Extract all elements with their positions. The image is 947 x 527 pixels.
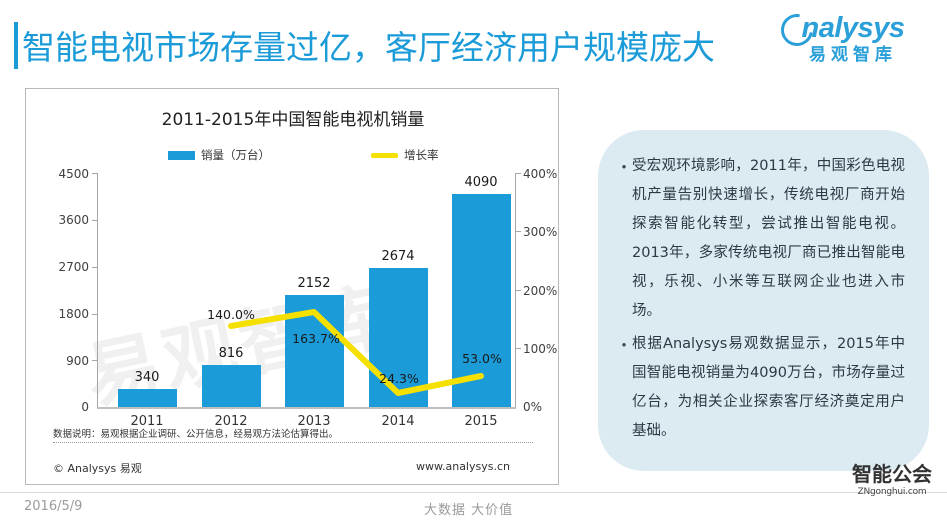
y2-tick-100: 100% (523, 342, 569, 356)
bar-2012[interactable] (202, 365, 261, 407)
y2-tick-400: 400% (523, 167, 569, 181)
analysys-chinese-name: 易观智库 (773, 44, 933, 66)
insight-bullet-2-text: 根据Analysys易观数据显示，2015年中国智能电视销量为4090万台，市场… (632, 330, 905, 446)
footer-divider (0, 492, 947, 493)
insight-bullet-1-text: 受宏观环境影响，2011年，中国彩色电视机产量告别快速增长，传统电视厂商开始探索… (632, 152, 905, 326)
insight-bullet-2: • 根据Analysys易观数据显示，2015年中国智能电视销量为4090万台，… (616, 330, 905, 446)
zngonghui-logo-chinese: 智能公会 (848, 462, 936, 486)
bar-2011[interactable] (118, 389, 177, 407)
zngonghui-logo-url: ZNgonghui.com (848, 486, 936, 498)
insight-bullet-1: • 受宏观环境影响，2011年，中国彩色电视机产量告别快速增长，传统电视厂商开始… (616, 152, 905, 326)
growth-label-2012: 140.0% (196, 307, 266, 322)
bar-2014[interactable] (369, 268, 428, 407)
growth-label-2014: 24.3% (364, 371, 434, 386)
x-label-2015: 2015 (441, 414, 521, 429)
bar-label-2014: 2674 (358, 249, 438, 264)
bar-label-2013: 2152 (274, 276, 354, 291)
analysys-wordmark: nalysys (773, 12, 933, 44)
y2-tick-200: 200% (523, 284, 569, 298)
bar-label-2012: 816 (191, 346, 271, 361)
title-accent-bar (14, 22, 18, 69)
y-tick-0: 0 (43, 400, 89, 414)
page-title: 智能电视市场存量过亿，客厅经济用户规模庞大 (22, 21, 715, 69)
y-tick-900: 900 (43, 354, 89, 368)
y-axis-left (97, 173, 98, 407)
y-tick-3600: 3600 (43, 213, 89, 227)
chart-note-divider (53, 442, 533, 443)
y2-tickmark-400 (516, 173, 521, 174)
y2-tick-300: 300% (523, 225, 569, 239)
y-tick-1800: 1800 (43, 307, 89, 321)
bullet-marker-icon: • (616, 152, 632, 326)
bar-label-2015: 4090 (441, 175, 521, 190)
analysys-logo: nalysys 易观智库 (773, 12, 933, 78)
page-header: 智能电视市场存量过亿，客厅经济用户规模庞大 nalysys 易观智库 (0, 0, 947, 86)
y2-tickmark-100 (516, 348, 521, 349)
growth-label-2015: 53.0% (447, 351, 517, 366)
y-tick-4500: 4500 (43, 167, 89, 181)
bar-2013[interactable] (285, 295, 344, 407)
growth-label-2013: 163.7% (281, 331, 351, 346)
y2-tickmark-200 (516, 290, 521, 291)
insight-panel: • 受宏观环境影响，2011年，中国彩色电视机产量告别快速增长，传统电视厂商开始… (598, 130, 929, 471)
x-label-2014: 2014 (358, 414, 438, 429)
y-tick-2700: 2700 (43, 260, 89, 274)
chart-website[interactable]: www.analysys.cn (416, 460, 510, 473)
zngonghui-logo[interactable]: 智能公会 ZNgonghui.com (848, 462, 936, 516)
x-axis (97, 407, 516, 409)
bullet-marker-icon: • (616, 330, 632, 446)
footer-slogan: 大数据 大价值 (424, 499, 513, 518)
bar-2015[interactable] (452, 194, 511, 407)
y-axis-right (515, 173, 516, 407)
y2-tickmark-300 (516, 231, 521, 232)
analysys-wordmark-text: nalysys (802, 12, 905, 44)
footer-date: 2016/5/9 (24, 499, 82, 514)
y2-tick-0: 0% (523, 400, 569, 414)
chart-note: 数据说明：易观根据企业调研、公开信息，经易观方法论估算得出。 (53, 426, 338, 440)
bar-label-2011: 340 (107, 370, 187, 385)
chart-copyright: © Analysys 易观 (53, 460, 142, 476)
chart-card: 2011-2015年中国智能电视机销量 销量（万台） 增长率 易观智库 4500… (25, 88, 559, 485)
